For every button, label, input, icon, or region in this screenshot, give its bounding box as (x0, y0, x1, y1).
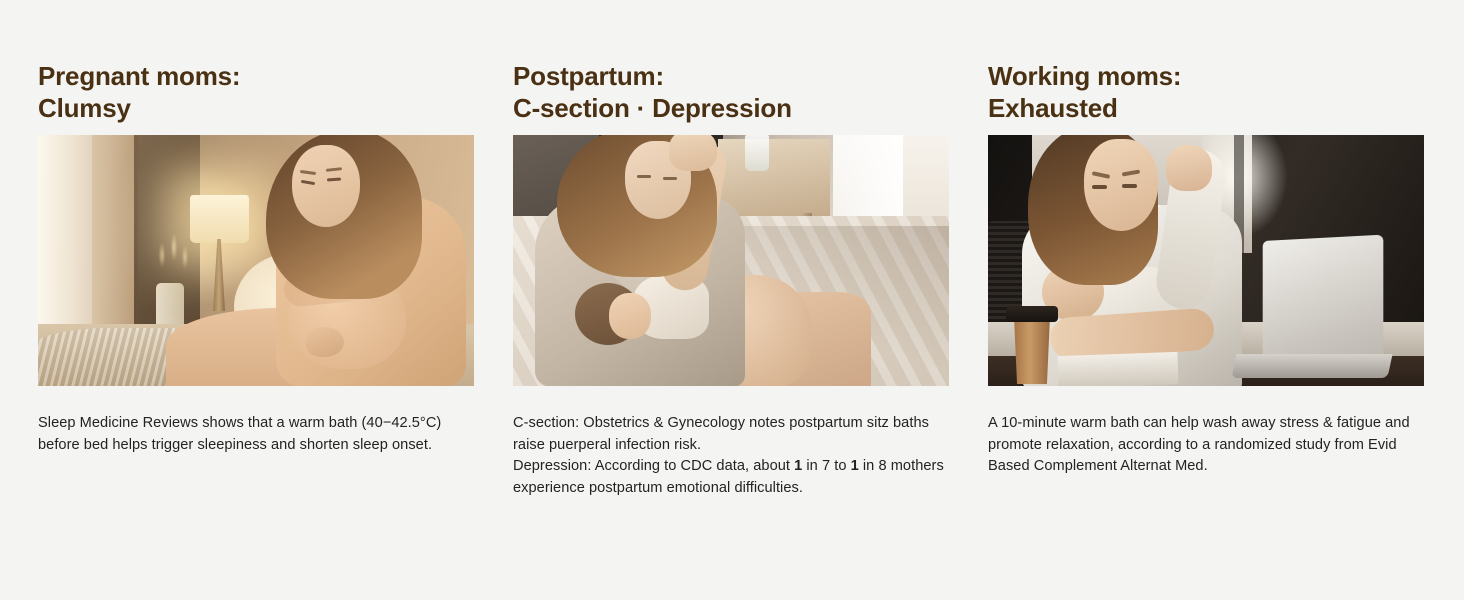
caption-1-line-1: Sleep Medicine Reviews shows that a warm… (38, 413, 474, 456)
column-working-moms: Working moms: Exhausted (988, 60, 1424, 499)
column-heading-3: Working moms: Exhausted (988, 60, 1424, 124)
caption-2: C-section: Obstetrics & Gynecology notes… (513, 413, 949, 499)
water-glass-shape (745, 135, 769, 171)
baby-face-shape (609, 293, 651, 339)
hand-on-forehead-shape (1166, 145, 1212, 191)
column-heading-1: Pregnant moms: Clumsy (38, 60, 474, 124)
coffee-lid-shape (1006, 306, 1058, 322)
caption-2-line-2: Depression: According to CDC data, about… (513, 456, 949, 499)
nightstand-shape (718, 139, 830, 217)
face-shape (292, 145, 360, 227)
papers-shape (1057, 352, 1178, 386)
hand-shape (306, 327, 344, 357)
laptop-screen-shape (1263, 235, 1384, 368)
eye-right-shape (663, 177, 677, 180)
photo-pregnant-mom (38, 135, 474, 386)
eye-right-shape (1122, 184, 1137, 188)
eye-left-shape (1092, 185, 1107, 189)
lamp-stand-shape (213, 239, 225, 311)
photo-3-scene (988, 135, 1424, 386)
column-postpartum: Postpartum: C-section · Depression (513, 60, 949, 499)
caption-3: A 10-minute warm bath can help wash away… (988, 413, 1424, 478)
column-heading-2: Postpartum: C-section · Depression (513, 60, 949, 124)
column-container: Pregnant moms: Clumsy (38, 60, 1426, 499)
caption-2-bold-2: 1 (851, 458, 859, 474)
photo-postpartum-mom (513, 135, 949, 386)
hand-on-forehead-shape (669, 135, 717, 171)
caption-3-line-1: A 10-minute warm bath can help wash away… (988, 413, 1424, 478)
lamp-shade-shape (190, 195, 249, 243)
caption-2-part-1: Depression: According to CDC data, about (513, 458, 794, 474)
photo-2-scene (513, 135, 949, 386)
caption-2-line-1: C-section: Obstetrics & Gynecology notes… (513, 413, 949, 456)
photo-1-scene (38, 135, 474, 386)
laptop-base-shape (1231, 354, 1392, 378)
column-pregnant-moms: Pregnant moms: Clumsy (38, 60, 474, 499)
caption-2-part-2: in 7 to (802, 458, 850, 474)
infographic-board: Pregnant moms: Clumsy (0, 0, 1464, 600)
photo-working-mom (988, 135, 1424, 386)
caption-1: Sleep Medicine Reviews shows that a warm… (38, 413, 474, 456)
eye-left-shape (637, 175, 651, 178)
